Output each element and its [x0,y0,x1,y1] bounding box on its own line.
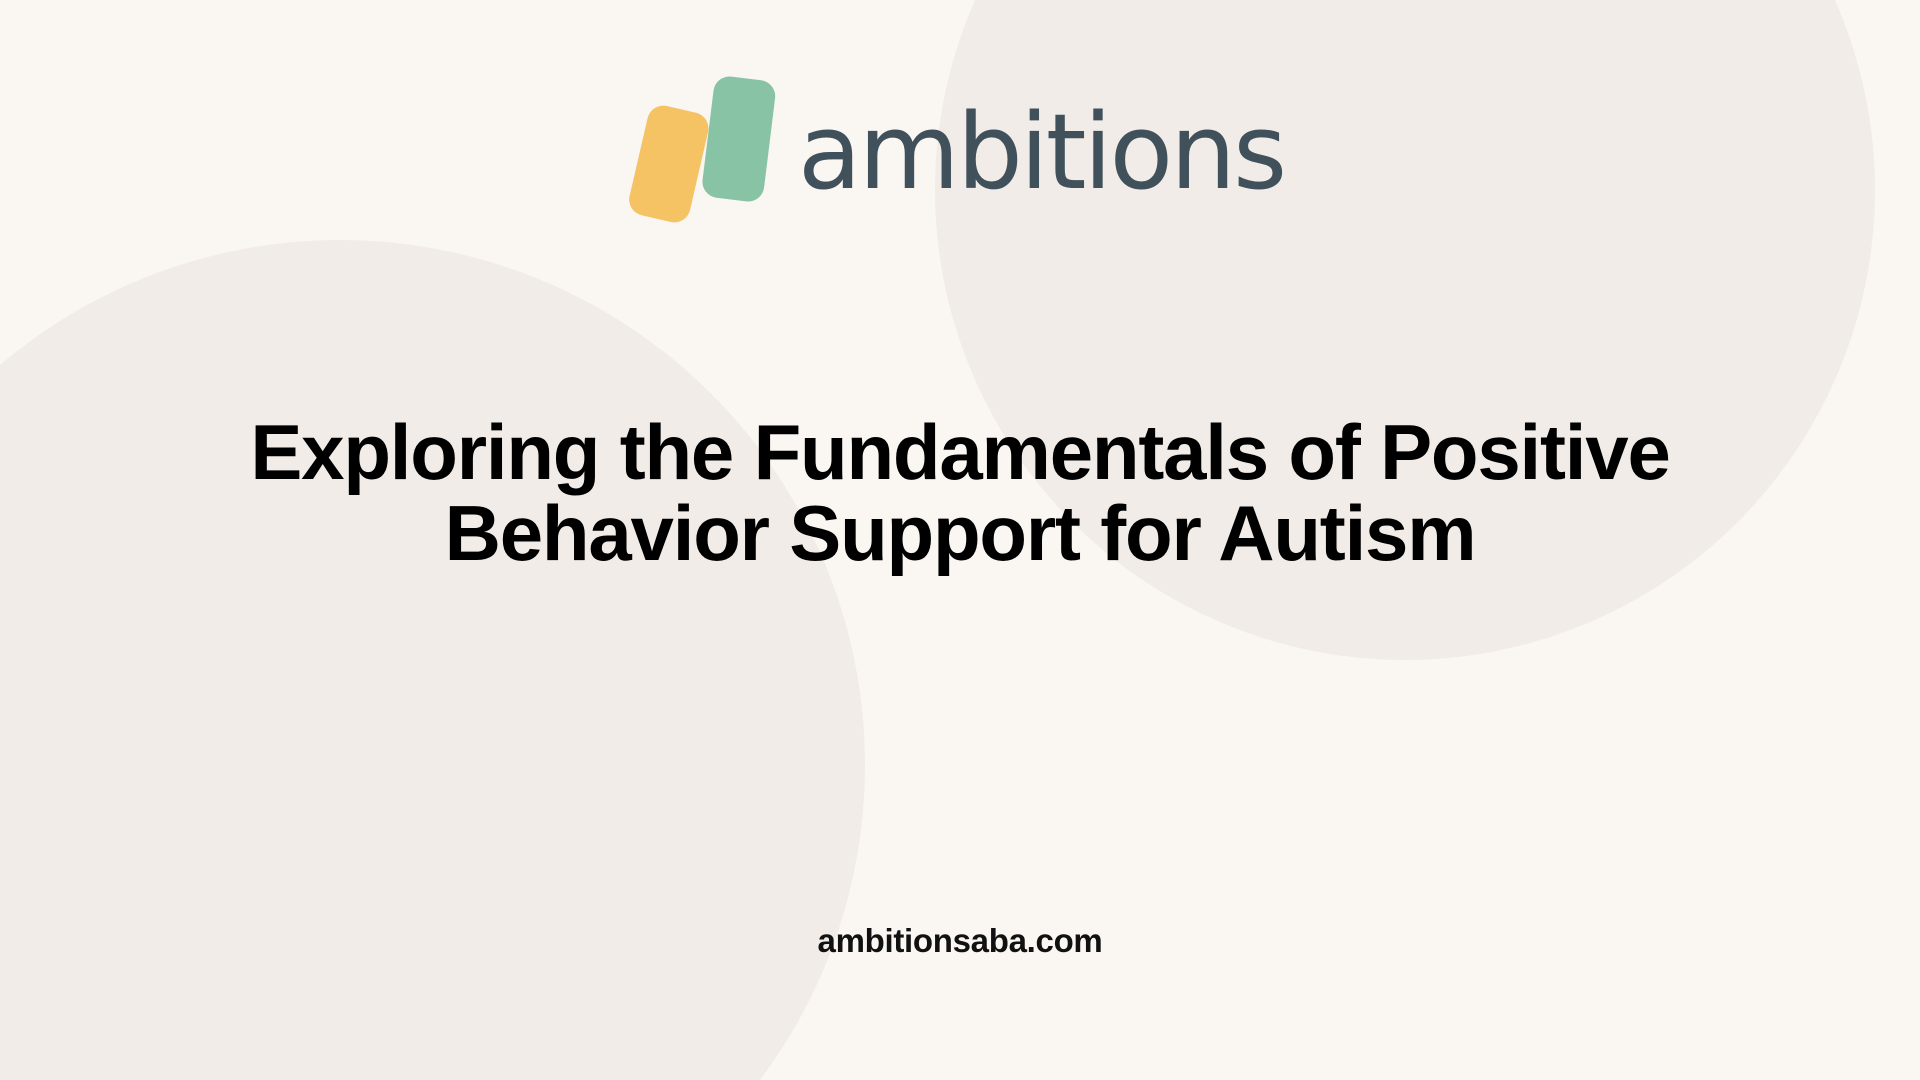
brand-wordmark: ambitions [798,100,1284,204]
site-url: ambitionsaba.com [818,922,1103,960]
ambitions-mark-icon [636,72,776,222]
orange-bar-icon [626,102,712,225]
brand-logo[interactable]: ambitions [636,72,1284,222]
slide-content: ambitions Exploring the Fundamentals of … [0,0,1920,1080]
slide-canvas: ambitions Exploring the Fundamentals of … [0,0,1920,1080]
page-title: Exploring the Fundamentals of Positive B… [180,412,1740,574]
green-bar-icon [701,75,777,204]
